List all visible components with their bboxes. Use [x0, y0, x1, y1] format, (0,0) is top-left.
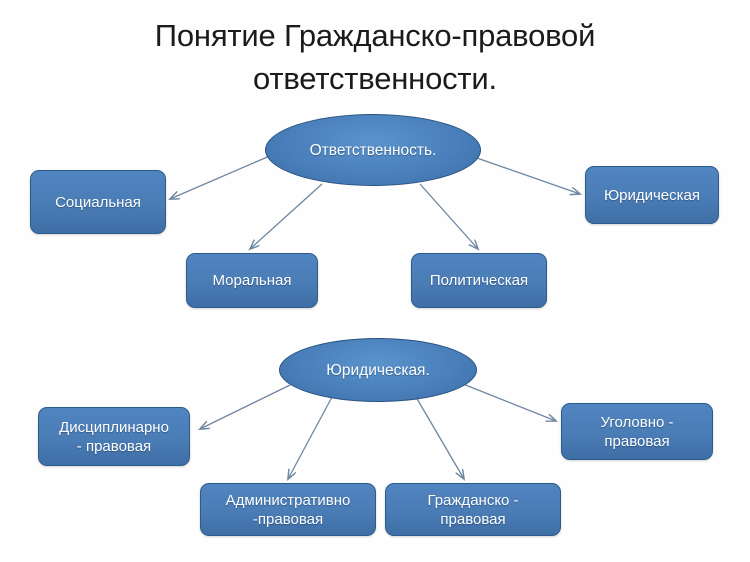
page-title: Понятие Гражданско-правовой ответственно… [60, 14, 690, 100]
node-moral[interactable]: Моральная [186, 253, 318, 308]
node-legal-root[interactable]: Юридическая. [279, 338, 477, 402]
node-responsibility-root[interactable]: Ответственность. [265, 114, 481, 186]
connector-root-to-political [420, 184, 478, 249]
connector-legalroot-to-criminal [458, 382, 556, 421]
node-label-line2: - правовая [77, 437, 151, 456]
node-political[interactable]: Политическая [411, 253, 547, 308]
connector-root-to-moral [250, 184, 322, 249]
connector-legalroot-to-disciplinary [200, 385, 290, 429]
node-label-line2: правовая [604, 432, 669, 451]
node-label: Политическая [430, 271, 528, 290]
node-label-line1: Гражданско - [427, 491, 518, 510]
node-civil[interactable]: Гражданско - правовая [385, 483, 561, 536]
node-label-line2: -правовая [253, 510, 323, 529]
node-label: Юридическая [604, 186, 700, 205]
node-label-line1: Административно [226, 491, 351, 510]
node-administrative[interactable]: Административно -правовая [200, 483, 376, 536]
node-label: Моральная [212, 271, 291, 290]
node-label: Юридическая. [326, 361, 430, 380]
node-label-line1: Дисциплинарно [59, 418, 169, 437]
node-label: Ответственность. [310, 141, 437, 160]
node-criminal[interactable]: Уголовно - правовая [561, 403, 713, 460]
node-legal-top[interactable]: Юридическая [585, 166, 719, 224]
node-disciplinary[interactable]: Дисциплинарно - правовая [38, 407, 190, 466]
node-label: Социальная [55, 193, 141, 212]
connector-legalroot-to-administrative [288, 397, 332, 479]
connector-root-to-legal [474, 157, 580, 194]
connector-legalroot-to-civil [416, 397, 464, 479]
connector-root-to-social [170, 155, 272, 199]
node-label-line1: Уголовно - [600, 413, 673, 432]
node-label-line2: правовая [440, 510, 505, 529]
diagram-canvas: Понятие Гражданско-правовой ответственно… [0, 0, 750, 562]
node-social[interactable]: Социальная [30, 170, 166, 234]
